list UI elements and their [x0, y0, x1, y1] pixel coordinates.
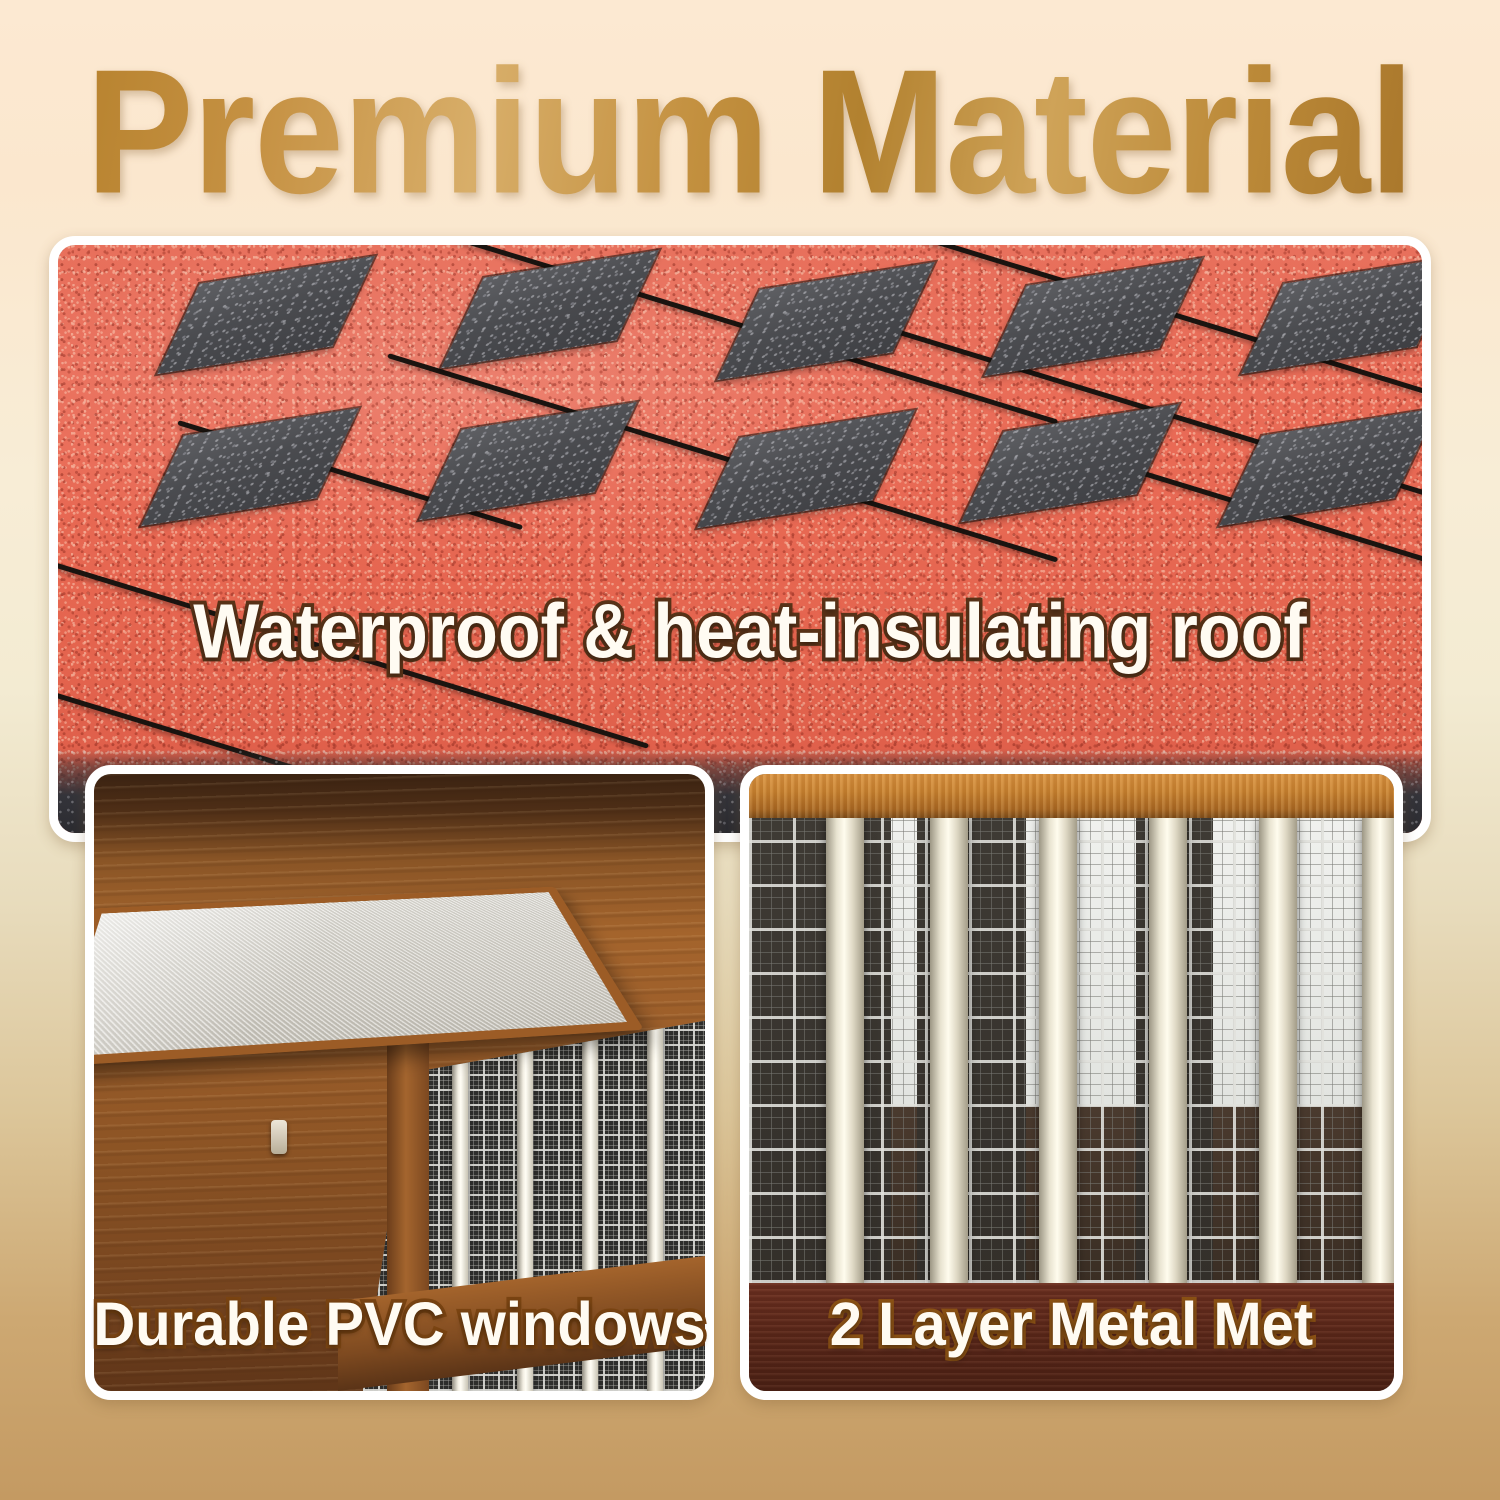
mesh-post — [930, 818, 968, 1283]
mesh-body — [749, 818, 1394, 1283]
mesh-post — [1259, 818, 1297, 1283]
wood-top-rail — [749, 774, 1394, 818]
caption-metal-mesh: 2 Layer Metal Met — [740, 1295, 1403, 1356]
mesh-post — [1149, 818, 1187, 1283]
mesh-post — [1362, 818, 1394, 1283]
caption-pvc-window: Durable PVC windows — [85, 1295, 714, 1356]
mesh-post — [1039, 818, 1077, 1283]
feature-panel-roof — [49, 236, 1431, 842]
page-header: Premium Material — [0, 42, 1500, 222]
roof-photo — [58, 245, 1422, 833]
mesh-post — [826, 818, 864, 1283]
window-latch — [271, 1120, 287, 1154]
page-title: Premium Material — [86, 44, 1413, 221]
caption-roof: Waterproof & heat-insulating roof — [0, 593, 1500, 670]
